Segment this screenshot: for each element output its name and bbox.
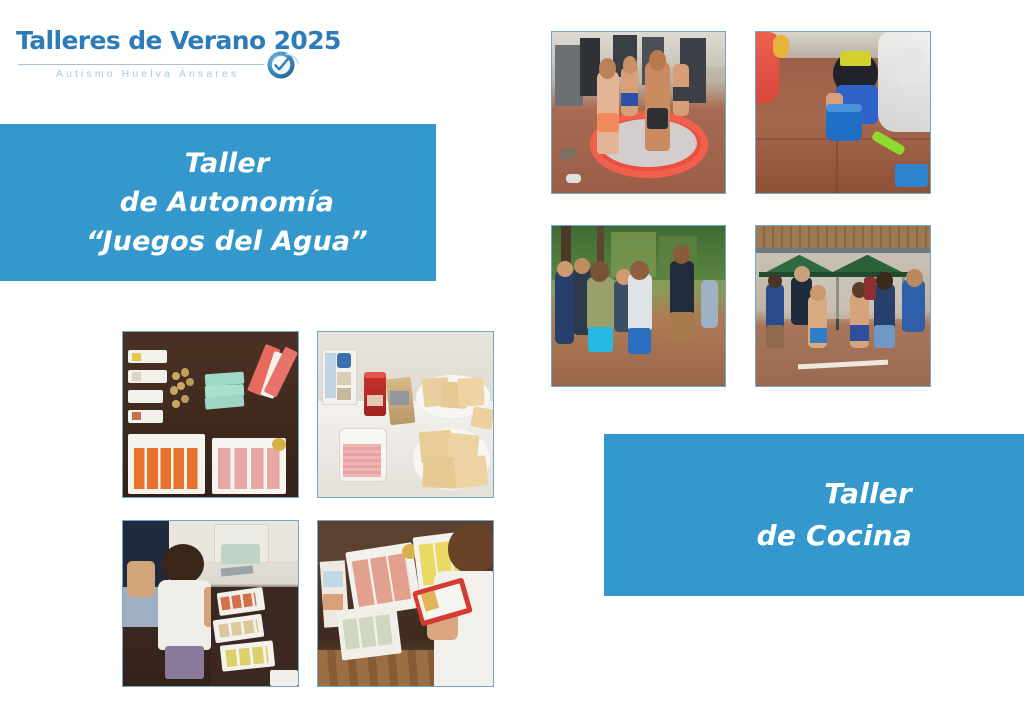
poster-page: Talleres de Verano 2025 Autismo Huelva Á… xyxy=(0,0,1024,724)
organization-logo: Talleres de Verano 2025 Autismo Huelva Á… xyxy=(16,28,306,94)
photo-agua-bucket xyxy=(755,31,931,194)
photo-cocina-girl-boards xyxy=(317,520,494,687)
photo-cocina-bread-table xyxy=(317,331,494,498)
logo-divider xyxy=(18,64,264,65)
circular-swoosh-logo-icon xyxy=(266,48,299,81)
photo-agua-group-yard xyxy=(551,225,726,387)
caption-box-cocina: Taller de Cocina xyxy=(604,434,1024,596)
caption-box-autonomia: Taller de Autonomía “Juegos del Agua” xyxy=(0,124,436,281)
caption-autonomia-line-2: de Autonomía xyxy=(120,183,334,222)
caption-autonomia-line-1: Taller xyxy=(185,144,270,183)
photo-grid-juegos-del-agua xyxy=(551,31,931,387)
caption-cocina-line-2: de Cocina xyxy=(757,515,912,557)
caption-cocina-line-1: Taller xyxy=(824,473,912,515)
logo-subtitle: Autismo Huelva Ánsares xyxy=(56,68,239,80)
photo-cocina-boy-activity xyxy=(122,520,299,687)
caption-autonomia-line-3: “Juegos del Agua” xyxy=(86,222,368,261)
photo-agua-canopies xyxy=(755,225,931,387)
photo-cocina-pictograms-money xyxy=(122,331,299,498)
logo-title: Talleres de Verano 2025 xyxy=(16,28,306,53)
photo-agua-pool xyxy=(551,31,726,194)
photo-grid-taller-de-cocina xyxy=(122,331,494,687)
